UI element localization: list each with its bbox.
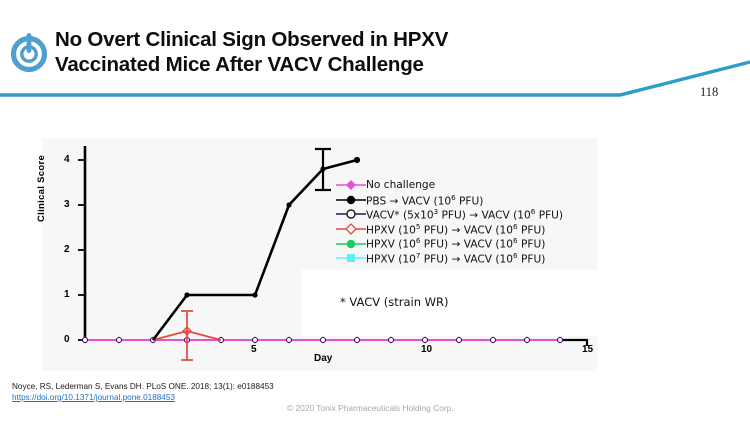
legend-item-vacv-prime: VACV* (5x103 PFU) → VACV (106 PFU) — [336, 207, 563, 222]
legend-item-no-challenge: No challenge — [336, 178, 563, 193]
circle-filled-green-icon — [336, 237, 366, 251]
legend-label: VACV* (5x103 PFU) → VACV (106 PFU) — [366, 207, 563, 222]
legend-item-hpxv-1e5: HPXV (105 PFU) → VACV (106 PFU) — [336, 222, 563, 237]
y-tick-1: 1 — [64, 289, 70, 300]
legend-label: No challenge — [366, 179, 435, 191]
legend-label: HPXV (105 PFU) → VACV (106 PFU) — [366, 222, 545, 237]
x-tick-5: 5 — [251, 344, 257, 355]
chart-note: * VACV (strain WR) — [340, 295, 449, 309]
y-tick-0: 0 — [64, 334, 70, 345]
legend-item-hpxv-1e6: HPXV (106 PFU) → VACV (106 PFU) — [336, 236, 563, 251]
legend-item-pbs-vacv: PBS → VACV (106 PFU) — [336, 193, 563, 208]
legend-label: PBS → VACV (106 PFU) — [366, 193, 483, 208]
chart-legend: No challenge PBS → VACV (106 PFU) VACV* … — [336, 178, 563, 266]
circle-filled-icon — [336, 193, 366, 207]
slide-header: No Overt Clinical Sign Observed in HPXV … — [0, 0, 750, 96]
legend-label: HPXV (107 PFU) → VACV (106 PFU) — [366, 251, 545, 266]
square-filled-icon — [336, 251, 366, 265]
legend-label: HPXV (106 PFU) → VACV (106 PFU) — [366, 236, 545, 251]
diamond-open-icon — [336, 222, 366, 236]
copyright-notice: © 2020 Tonix Pharmaceuticals Holding Cor… — [287, 403, 454, 413]
y-tick-2: 2 — [64, 244, 70, 255]
diamond-filled-icon — [336, 178, 366, 192]
page-number: 118 — [700, 85, 718, 100]
legend-item-hpxv-1e7: HPXV (107 PFU) → VACV (106 PFU) — [336, 251, 563, 266]
x-tick-15: 15 — [582, 344, 593, 355]
page-title-line1: No Overt Clinical Sign Observed in HPXV — [55, 27, 575, 52]
citation-doi-link[interactable]: https://doi.org/10.1371/journal.pone.018… — [12, 392, 175, 403]
y-tick-3: 3 — [64, 199, 70, 210]
citation-text: Noyce, RS, Lederman S, Evans DH. PLoS ON… — [12, 381, 274, 392]
circle-open-icon — [336, 207, 366, 221]
x-axis-title: Day — [314, 353, 332, 364]
y-tick-4: 4 — [64, 154, 70, 165]
header-accent-rule — [0, 60, 750, 100]
citation: Noyce, RS, Lederman S, Evans DH. PLoS ON… — [12, 381, 274, 403]
x-tick-10: 10 — [421, 344, 432, 355]
y-axis-title: Clinical Score — [36, 155, 47, 222]
